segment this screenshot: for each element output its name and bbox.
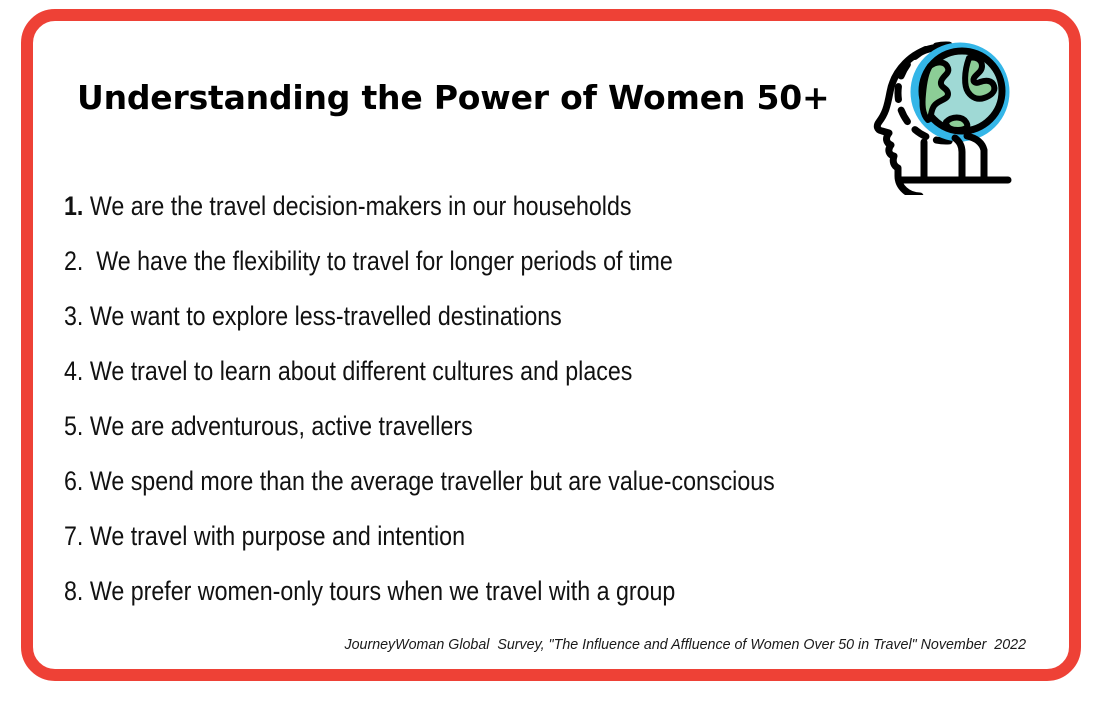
list-item: 7. We travel with purpose and intention	[64, 516, 907, 571]
insights-list: 1. We are the travel decision-makers in …	[64, 186, 1044, 626]
list-item: 5. We are adventurous, active travellers	[64, 406, 907, 461]
list-item: 6. We spend more than the average travel…	[64, 461, 907, 516]
list-item-number: 7.	[64, 521, 83, 551]
list-item-number: 2.	[64, 246, 83, 276]
list-item-number: 5.	[64, 411, 83, 441]
page-title: Understanding the Power of Women 50+	[77, 78, 829, 117]
list-item-number: 1.	[64, 191, 83, 221]
list-item-label: We travel to learn about different cultu…	[83, 356, 632, 386]
list-item-number: 8.	[64, 576, 83, 606]
list-item-label: We are the travel decision-makers in our…	[83, 191, 631, 221]
list-item-label: We spend more than the average traveller…	[83, 466, 774, 496]
list-item: 3. We want to explore less-travelled des…	[64, 296, 907, 351]
list-item-label: We have the flexibility to travel for lo…	[83, 246, 672, 276]
list-item-label: We want to explore less-travelled destin…	[83, 301, 561, 331]
list-item-number: 3.	[64, 301, 83, 331]
slide-canvas: Understanding the Power of Women 50+ 1. …	[0, 0, 1102, 702]
list-item-number: 6.	[64, 466, 83, 496]
list-item-label: We prefer women-only tours when we trave…	[83, 576, 675, 606]
list-item-label: We travel with purpose and intention	[83, 521, 465, 551]
list-item: 1. We are the travel decision-makers in …	[64, 186, 907, 241]
list-item: 4. We travel to learn about different cu…	[64, 351, 907, 406]
list-item: 8. We prefer women-only tours when we tr…	[64, 571, 907, 626]
list-item: 2. We have the flexibility to travel for…	[64, 241, 907, 296]
source-citation: JourneyWoman Global Survey, "The Influen…	[342, 636, 1026, 653]
head-with-globe-icon	[872, 30, 1027, 195]
list-item-label: We are adventurous, active travellers	[83, 411, 472, 441]
list-item-number: 4.	[64, 356, 83, 386]
